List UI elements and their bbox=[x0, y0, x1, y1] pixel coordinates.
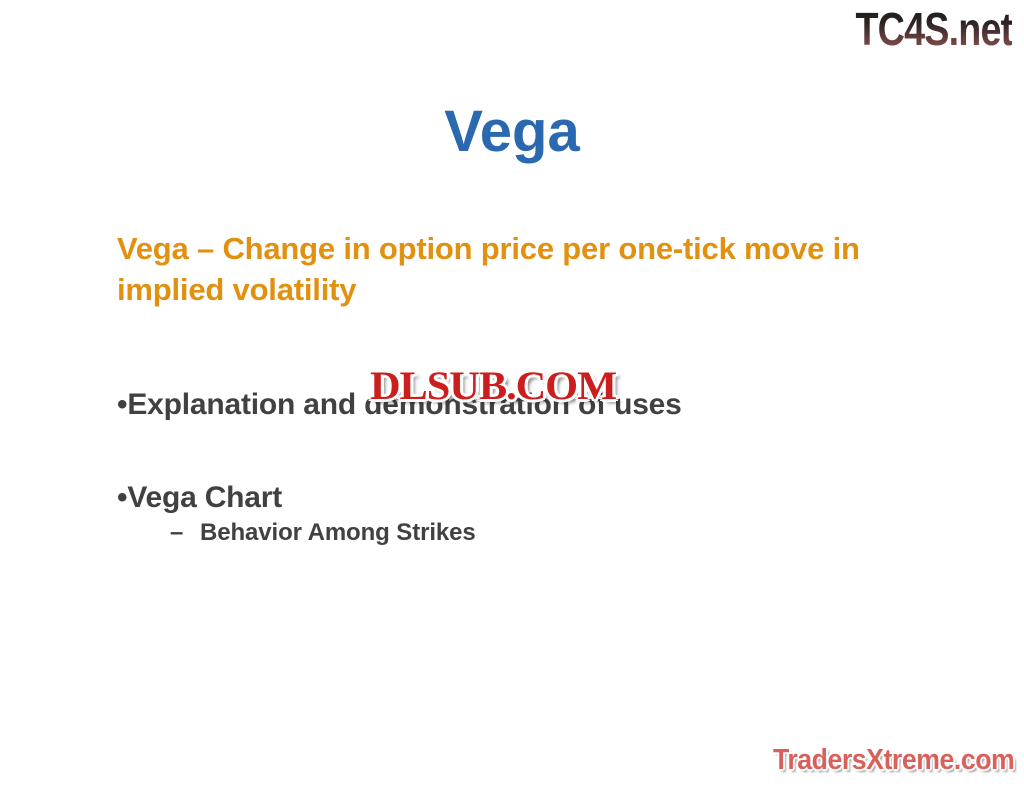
list-item: •Explanation and demonstration of uses bbox=[117, 386, 907, 424]
list-item: •Vega Chart bbox=[117, 479, 907, 517]
slide-body: Vega – Change in option price per one-ti… bbox=[117, 228, 907, 549]
list-item-label: Explanation and demonstration of uses bbox=[127, 388, 681, 421]
slide-canvas: TC4S.net Vega Vega – Change in option pr… bbox=[0, 0, 1024, 791]
bullet-dot-icon: • bbox=[117, 481, 127, 514]
sub-list-item-label: Behavior Among Strikes bbox=[200, 519, 476, 546]
spacer-between-bullets bbox=[117, 424, 907, 479]
page-title: Vega bbox=[0, 98, 1024, 165]
lead-definition-text: Vega – Change in option price per one-ti… bbox=[117, 228, 877, 310]
tc4s-brand-logo: TC4S.net bbox=[855, 3, 1012, 55]
tradersxtreme-watermark: TradersXtreme.com bbox=[773, 743, 1014, 777]
bullet-dash-icon: – bbox=[170, 517, 200, 549]
list-item-label: Vega Chart bbox=[127, 481, 282, 514]
spacer-after-lead bbox=[117, 310, 907, 386]
bullet-dot-icon: • bbox=[117, 388, 127, 421]
sub-list-item: –Behavior Among Strikes bbox=[117, 517, 907, 549]
